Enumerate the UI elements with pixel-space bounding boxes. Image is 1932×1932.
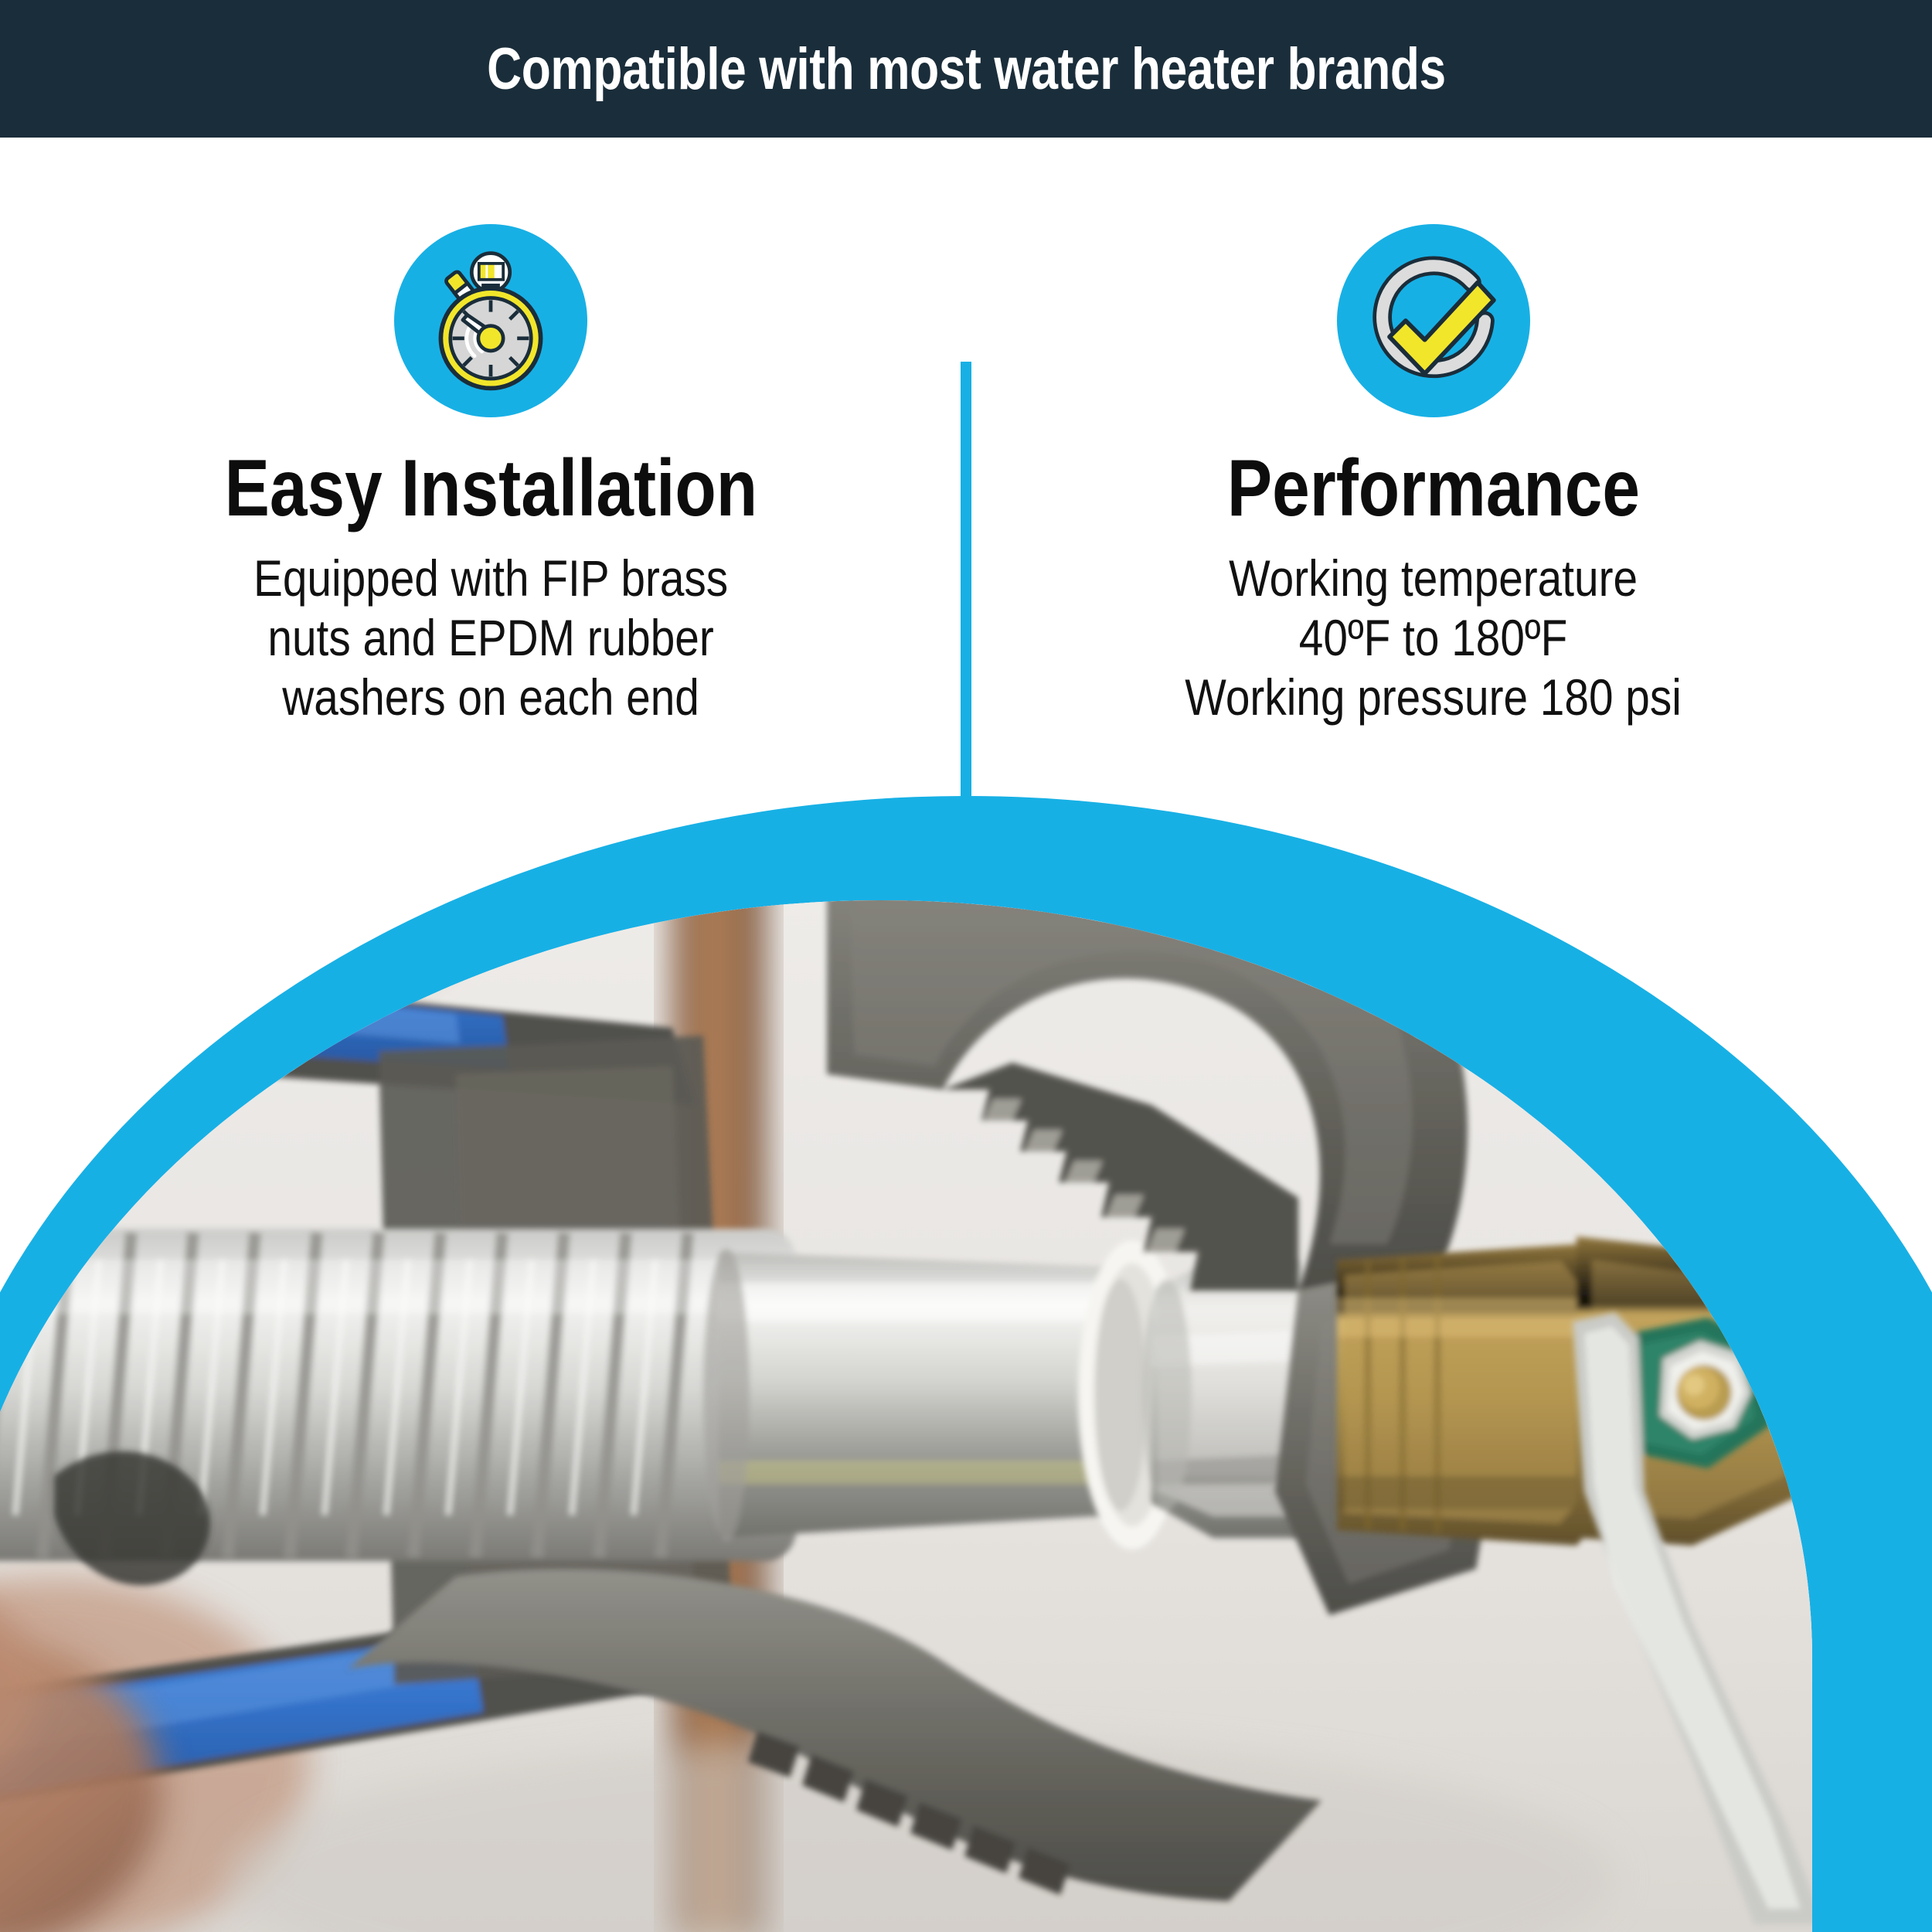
feature-title: Performance [1227, 448, 1640, 529]
header-banner: Compatible with most water heater brands [0, 0, 1932, 138]
feature-body: Working temperature 40ºF to 180ºF Workin… [1185, 549, 1682, 728]
banner-title: Compatible with most water heater brands [487, 36, 1446, 103]
installation-photo [0, 900, 1812, 1932]
photo-mask [0, 900, 1812, 1932]
feature-column-easy-installation: Easy Installation Equipped with FIP bras… [54, 138, 927, 728]
cyan-arc-frame [0, 796, 1932, 1932]
check-circle-icon-badge [1337, 224, 1530, 417]
stopwatch-icon-badge [394, 224, 587, 417]
check-circle-icon [1360, 247, 1507, 394]
feature-body: Equipped with FIP brass nuts and EPDM ru… [253, 549, 728, 728]
feature-column-performance: Performance Working temperature 40ºF to … [997, 138, 1870, 728]
stopwatch-icon [417, 247, 564, 394]
features-section: Easy Installation Equipped with FIP bras… [0, 138, 1932, 802]
infographic-page: Compatible with most water heater brands [0, 0, 1932, 1932]
feature-title: Easy Installation [224, 448, 757, 529]
product-photo-block [0, 796, 1932, 1932]
